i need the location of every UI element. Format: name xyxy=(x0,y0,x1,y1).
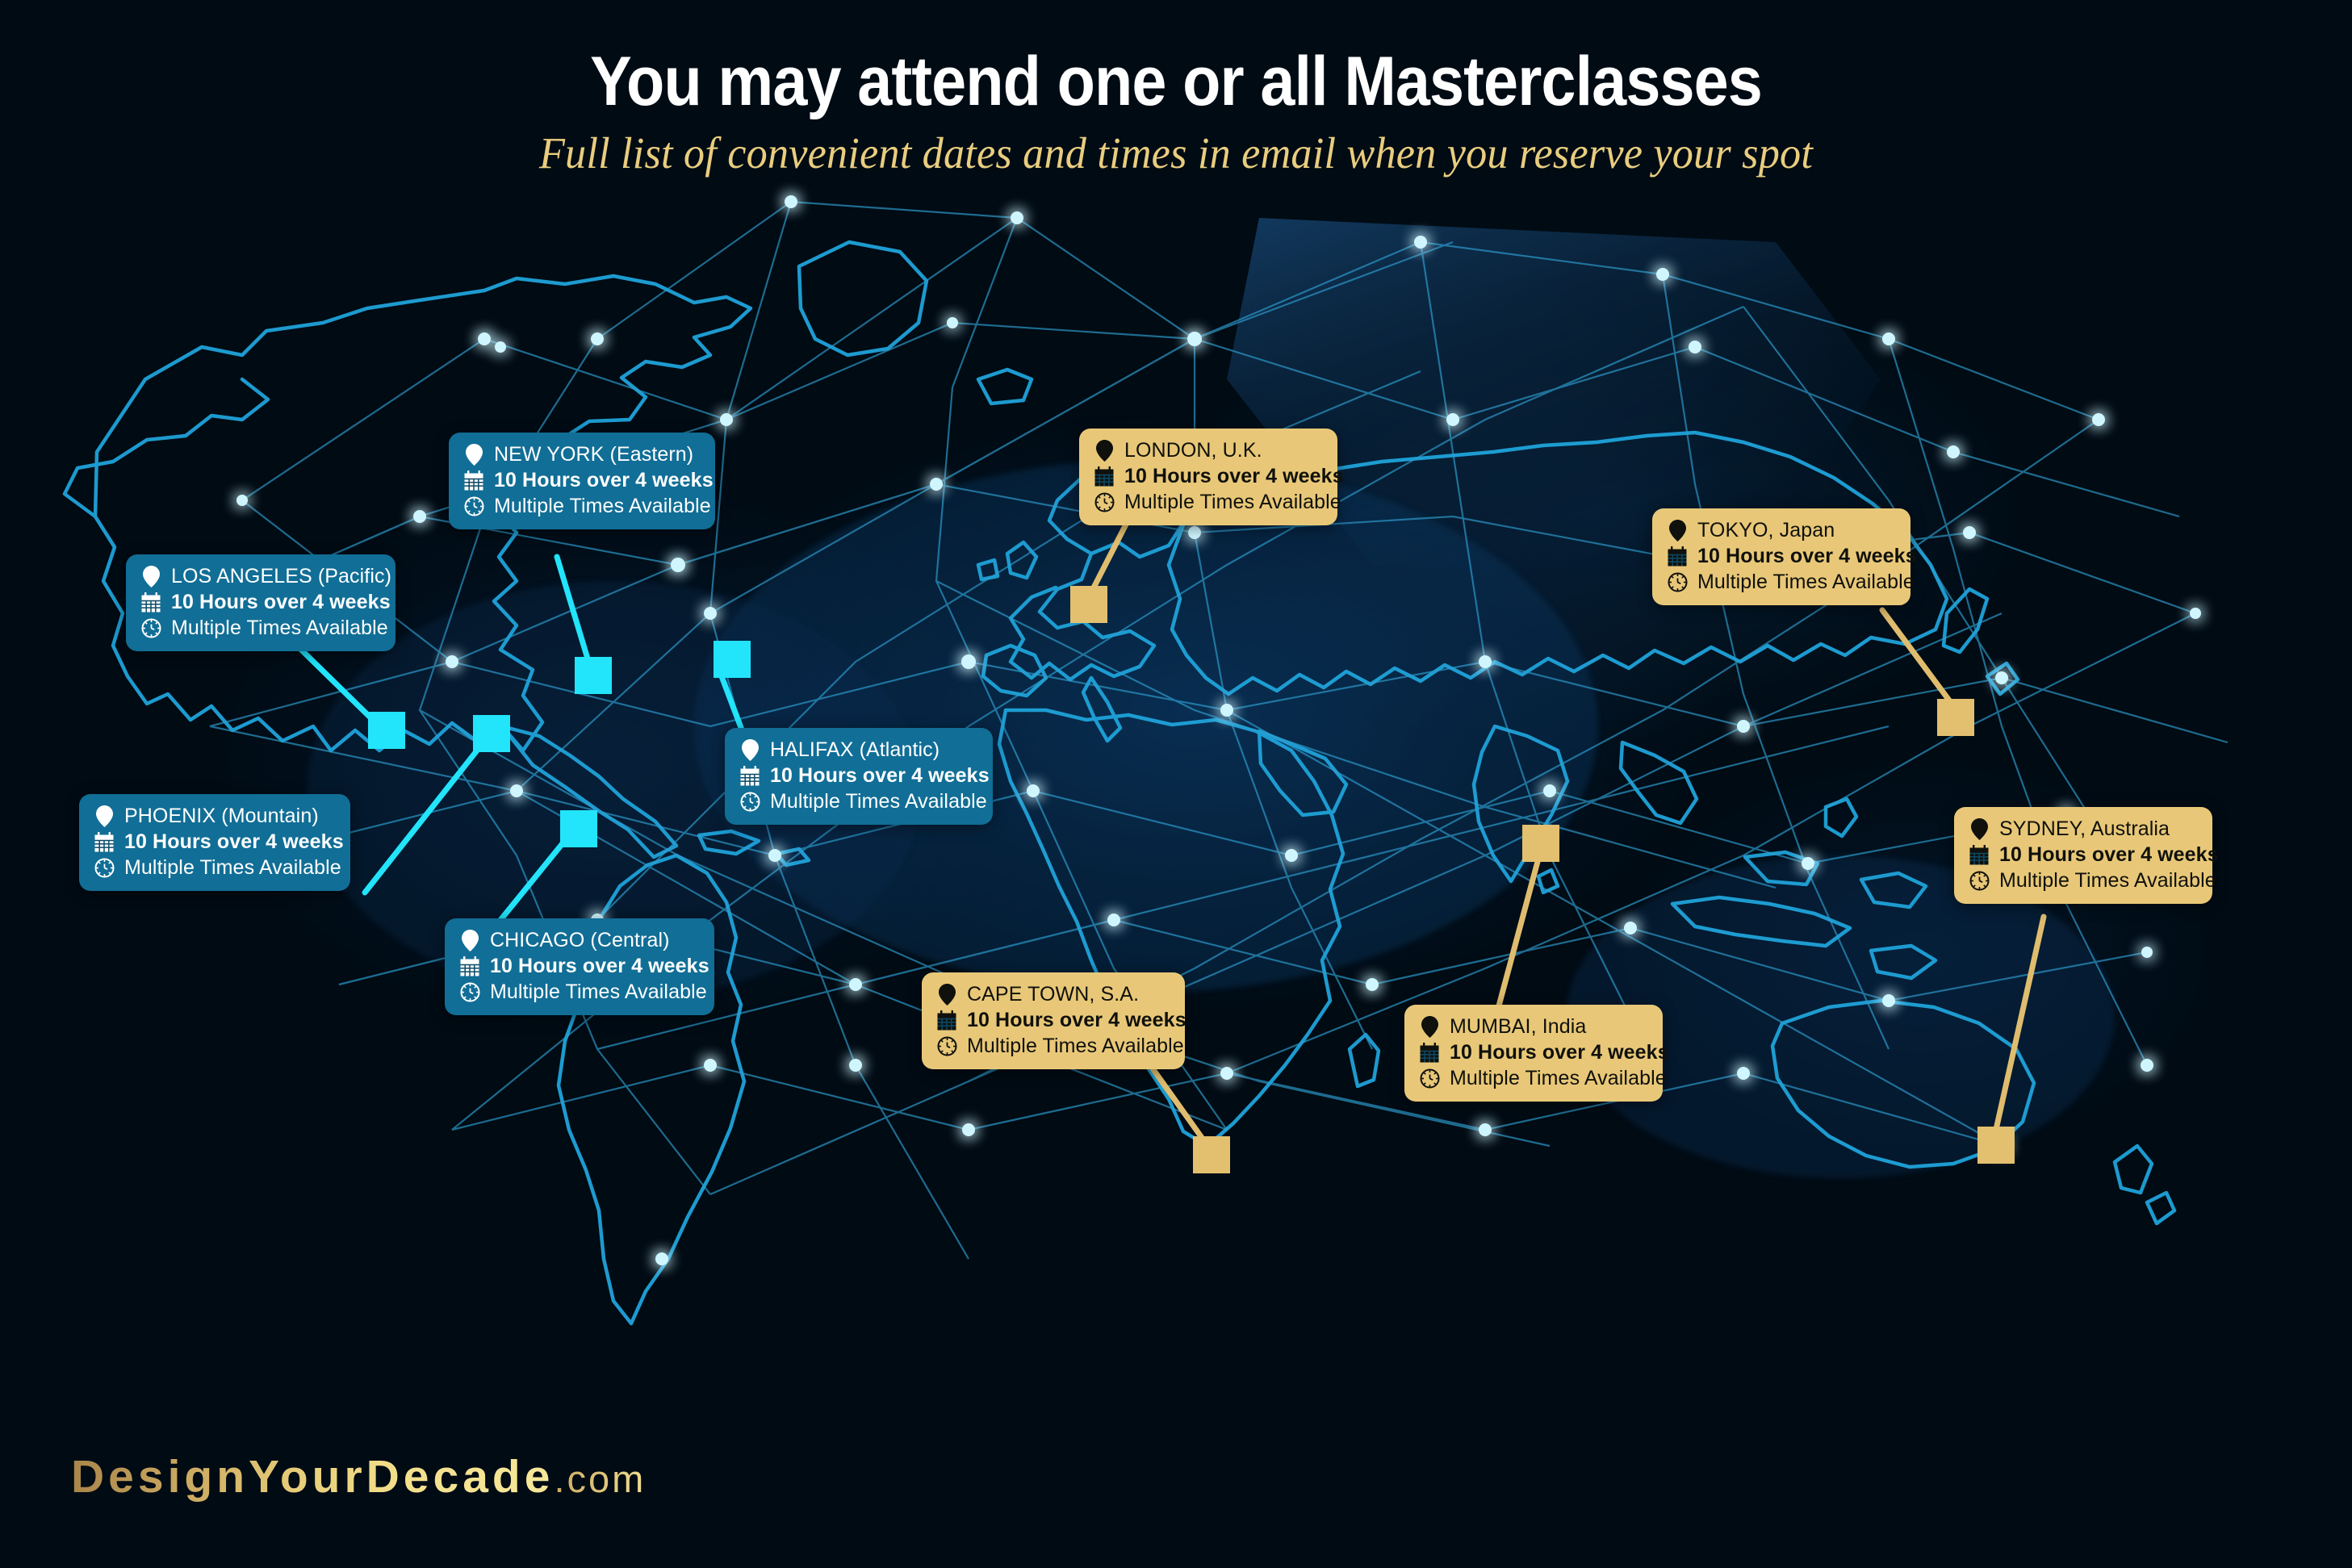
card-duration-row: 10 Hours over 4 weeks xyxy=(1667,545,1893,567)
marker-phoenix xyxy=(473,715,510,752)
card-duration: 10 Hours over 4 weeks xyxy=(1697,546,1917,567)
card-times-row: Multiple Times Available xyxy=(463,495,697,517)
card-city: CHICAGO (Central) xyxy=(490,930,670,951)
card-city-row: SYDNEY, Australia xyxy=(1969,817,2195,840)
card-city: TOKYO, Japan xyxy=(1697,521,1835,541)
marker-sydney xyxy=(1977,1127,2015,1164)
map-pin-icon xyxy=(1969,817,1990,840)
card-duration: 10 Hours over 4 weeks xyxy=(1450,1043,1669,1063)
card-times: Multiple Times Available xyxy=(1450,1068,1667,1089)
calendar-icon xyxy=(140,591,161,613)
card-city: NEW YORK (Eastern) xyxy=(494,445,693,465)
card-city-row: CAPE TOWN, S.A. xyxy=(936,983,1167,1006)
card-city-row: HALIFAX (Atlantic) xyxy=(739,738,975,761)
masterclass-card-chicago[interactable]: CHICAGO (Central)10 Hours over 4 weeksMu… xyxy=(445,918,714,1015)
map-pin-icon xyxy=(463,443,484,466)
card-duration-row: 10 Hours over 4 weeks xyxy=(1094,465,1320,487)
card-city: LOS ANGELES (Pacific) xyxy=(171,567,391,587)
card-city: SYDNEY, Australia xyxy=(1999,819,2170,839)
card-city-row: NEW YORK (Eastern) xyxy=(463,443,697,466)
map-pin-icon xyxy=(1419,1015,1440,1038)
card-duration: 10 Hours over 4 weeks xyxy=(494,470,714,491)
card-times-row: Multiple Times Available xyxy=(739,790,975,813)
card-times-row: Multiple Times Available xyxy=(1969,869,2195,892)
card-times: Multiple Times Available xyxy=(1999,871,2216,891)
card-duration: 10 Hours over 4 weeks xyxy=(124,832,344,852)
clock-icon xyxy=(739,790,760,813)
masterclass-card-los-angeles[interactable]: LOS ANGELES (Pacific)10 Hours over 4 wee… xyxy=(126,554,395,651)
marker-mumbai xyxy=(1522,825,1559,862)
page-subtitle: Full list of convenient dates and times … xyxy=(59,128,2293,178)
card-city-row: PHOENIX (Mountain) xyxy=(94,805,333,827)
clock-icon xyxy=(1667,571,1688,593)
card-duration: 10 Hours over 4 weeks xyxy=(770,766,990,786)
marker-london xyxy=(1070,586,1107,623)
marker-cape-town xyxy=(1193,1136,1230,1173)
clock-icon xyxy=(936,1035,957,1057)
card-times: Multiple Times Available xyxy=(1697,572,1915,592)
card-duration: 10 Hours over 4 weeks xyxy=(1124,466,1344,487)
calendar-icon xyxy=(94,830,115,853)
calendar-icon xyxy=(1094,465,1115,487)
calendar-icon xyxy=(739,764,760,787)
world-map xyxy=(0,0,2352,1568)
calendar-icon xyxy=(459,955,480,977)
marker-chicago xyxy=(560,810,597,847)
masterclass-card-london[interactable]: LONDON, U.K.10 Hours over 4 weeksMultipl… xyxy=(1079,429,1337,525)
clock-icon xyxy=(1094,491,1115,513)
card-times-row: Multiple Times Available xyxy=(1667,571,1893,593)
map-pin-icon xyxy=(459,929,480,951)
card-city-row: LOS ANGELES (Pacific) xyxy=(140,565,378,587)
clock-icon xyxy=(463,495,484,517)
card-city: CAPE TOWN, S.A. xyxy=(967,985,1139,1005)
masterclass-card-mumbai[interactable]: MUMBAI, India10 Hours over 4 weeksMultip… xyxy=(1404,1005,1663,1102)
masterclass-card-tokyo[interactable]: TOKYO, Japan10 Hours over 4 weeksMultipl… xyxy=(1652,508,1910,605)
marker-new-york xyxy=(575,657,612,694)
card-city-row: MUMBAI, India xyxy=(1419,1015,1645,1038)
card-times: Multiple Times Available xyxy=(967,1036,1184,1056)
masterclass-card-cape-town[interactable]: CAPE TOWN, S.A.10 Hours over 4 weeksMult… xyxy=(922,972,1185,1069)
card-duration-row: 10 Hours over 4 weeks xyxy=(140,591,378,613)
clock-icon xyxy=(459,981,480,1003)
card-times-row: Multiple Times Available xyxy=(1094,491,1320,513)
calendar-icon xyxy=(1419,1041,1440,1064)
marker-los-angeles xyxy=(368,712,405,749)
clock-icon xyxy=(1419,1067,1440,1089)
map-pin-icon xyxy=(94,805,115,827)
card-duration: 10 Hours over 4 weeks xyxy=(967,1010,1186,1031)
card-city: HALIFAX (Atlantic) xyxy=(770,740,940,760)
page-title: You may attend one or all Masterclasses xyxy=(118,42,2235,122)
masterclass-card-phoenix[interactable]: PHOENIX (Mountain)10 Hours over 4 weeksM… xyxy=(79,794,350,891)
card-times: Multiple Times Available xyxy=(1124,492,1341,512)
leader-tokyo xyxy=(1882,610,1952,704)
map-glow-patches xyxy=(307,218,2115,1178)
card-times: Multiple Times Available xyxy=(171,618,388,638)
logo-brand: DesignYourDecade xyxy=(71,1451,554,1503)
card-times: Multiple Times Available xyxy=(770,792,987,812)
card-times-row: Multiple Times Available xyxy=(140,617,378,639)
card-duration-row: 10 Hours over 4 weeks xyxy=(1419,1041,1645,1064)
logo-tld: .com xyxy=(554,1457,646,1500)
site-logo[interactable]: DesignYourDecade.com xyxy=(71,1450,646,1503)
card-times-row: Multiple Times Available xyxy=(459,981,697,1003)
clock-icon xyxy=(140,617,161,639)
card-times-row: Multiple Times Available xyxy=(936,1035,1167,1057)
card-city: PHOENIX (Mountain) xyxy=(124,806,319,826)
card-city: MUMBAI, India xyxy=(1450,1017,1586,1037)
card-duration-row: 10 Hours over 4 weeks xyxy=(739,764,975,787)
map-pin-icon xyxy=(1094,439,1115,462)
card-times-row: Multiple Times Available xyxy=(94,856,333,879)
card-duration: 10 Hours over 4 weeks xyxy=(490,956,709,976)
marker-tokyo xyxy=(1937,699,1974,736)
card-times: Multiple Times Available xyxy=(490,982,707,1002)
card-duration-row: 10 Hours over 4 weeks xyxy=(936,1009,1167,1031)
card-duration-row: 10 Hours over 4 weeks xyxy=(94,830,333,853)
masterclass-card-sydney[interactable]: SYDNEY, Australia10 Hours over 4 weeksMu… xyxy=(1954,807,2212,904)
card-times: Multiple Times Available xyxy=(124,858,341,878)
card-duration-row: 10 Hours over 4 weeks xyxy=(459,955,697,977)
card-city-row: TOKYO, Japan xyxy=(1667,519,1893,541)
calendar-icon xyxy=(936,1009,957,1031)
card-times: Multiple Times Available xyxy=(494,496,711,516)
masterclass-card-new-york[interactable]: NEW YORK (Eastern)10 Hours over 4 weeksM… xyxy=(449,433,715,529)
map-pin-icon xyxy=(1667,519,1688,541)
calendar-icon xyxy=(1667,545,1688,567)
card-duration: 10 Hours over 4 weeks xyxy=(171,592,391,613)
card-city-row: LONDON, U.K. xyxy=(1094,439,1320,462)
card-duration-row: 10 Hours over 4 weeks xyxy=(1969,843,2195,866)
card-duration-row: 10 Hours over 4 weeks xyxy=(463,469,697,491)
map-pin-icon xyxy=(140,565,161,587)
map-pin-icon xyxy=(739,738,760,761)
masterclass-card-halifax[interactable]: HALIFAX (Atlantic)10 Hours over 4 weeksM… xyxy=(725,728,993,825)
infographic-canvas: You may attend one or all Masterclasses … xyxy=(0,0,2352,1568)
card-city-row: CHICAGO (Central) xyxy=(459,929,697,951)
card-duration: 10 Hours over 4 weeks xyxy=(1999,845,2219,865)
map-pin-icon xyxy=(936,983,957,1006)
clock-icon xyxy=(94,856,115,879)
calendar-icon xyxy=(463,469,484,491)
clock-icon xyxy=(1969,869,1990,892)
marker-halifax xyxy=(714,641,751,678)
card-times-row: Multiple Times Available xyxy=(1419,1067,1645,1089)
calendar-icon xyxy=(1969,843,1990,866)
card-city: LONDON, U.K. xyxy=(1124,441,1262,461)
